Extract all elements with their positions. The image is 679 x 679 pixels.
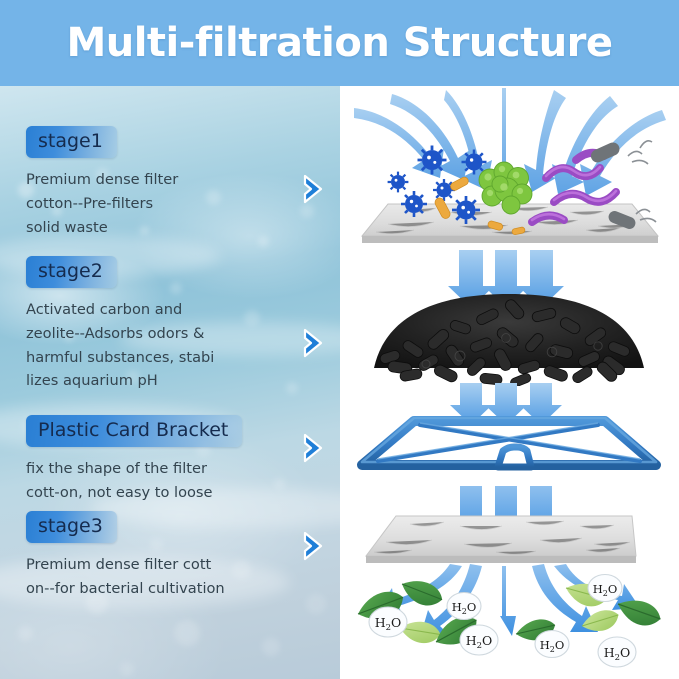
page-title: Multi-filtration Structure xyxy=(66,20,612,66)
chevron-right-icon-2 xyxy=(296,326,330,360)
filter-cotton-pad-stage4 xyxy=(366,516,636,563)
stage-description-1: Premium dense filter cotton--Pre-filters… xyxy=(26,168,286,239)
chevron-right-icon-1 xyxy=(296,172,330,206)
stage-block-2[interactable]: stage2 Activated carbon and zeolite--Ads… xyxy=(26,256,286,393)
water-bubble: H2O xyxy=(460,625,498,655)
stage-2-line-2: zeolite--Adsorbs odors & xyxy=(26,322,286,346)
stage-block-3[interactable]: Plastic Card Bracket fix the shape of th… xyxy=(26,415,286,505)
plastic-card-bracket xyxy=(362,418,656,467)
stage-2-line-3: harmful substances, stabi xyxy=(26,346,286,370)
figure-stage-4: H2O H2O H2O H2O xyxy=(340,486,679,679)
stage-badge-4: stage3 xyxy=(26,511,117,543)
stage-badge-3: Plastic Card Bracket xyxy=(26,415,242,447)
water-bubble: H2O xyxy=(369,607,407,637)
stage-block-1[interactable]: stage1 Premium dense filter cotton--Pre-… xyxy=(26,126,286,239)
stage-3-line-2: cott-on, not easy to loose xyxy=(26,481,286,505)
stage-1-line-1: Premium dense filter xyxy=(26,168,286,192)
right-illustration-panel: H2O H2O H2O H2O xyxy=(340,86,679,679)
stage-description-4: Premium dense filter cott on--for bacter… xyxy=(26,553,286,600)
water-bubble: H2O xyxy=(447,593,481,620)
stage-1-line-3: solid waste xyxy=(26,216,286,240)
water-bubble: H2O xyxy=(598,637,636,667)
stage-description-3: fix the shape of the filter cott-on, not… xyxy=(26,457,286,504)
water-bubble: H2O xyxy=(588,575,622,602)
chevron-right-icon-3 xyxy=(296,431,330,465)
stage-block-4[interactable]: stage3 Premium dense filter cott on--for… xyxy=(26,511,286,601)
figure-stage-2 xyxy=(340,246,679,386)
water-bubble: H2O xyxy=(535,631,569,658)
stage-4-line-1: Premium dense filter cott xyxy=(26,553,286,577)
figure-stage-3-bracket xyxy=(340,383,679,493)
stage-4-line-2: on--for bacterial cultivation xyxy=(26,577,286,601)
left-text-panel: stage1 Premium dense filter cotton--Pre-… xyxy=(0,86,340,679)
stage-3-line-1: fix the shape of the filter xyxy=(26,457,286,481)
stage-badge-2: stage2 xyxy=(26,256,117,288)
stage-2-line-1: Activated carbon and xyxy=(26,298,286,322)
header-banner: Multi-filtration Structure xyxy=(0,0,679,86)
stage-1-line-2: cotton--Pre-filters xyxy=(26,192,286,216)
stage-badge-1: stage1 xyxy=(26,126,117,158)
stage-description-2: Activated carbon and zeolite--Adsorbs od… xyxy=(26,298,286,393)
figure-stage-1 xyxy=(340,86,679,246)
infographic-poster: Multi-filtration Structure xyxy=(0,0,679,679)
stage-2-line-4: lizes aquarium pH xyxy=(26,369,286,393)
activated-carbon-mound xyxy=(374,294,644,386)
chevron-right-icon-4 xyxy=(296,529,330,563)
